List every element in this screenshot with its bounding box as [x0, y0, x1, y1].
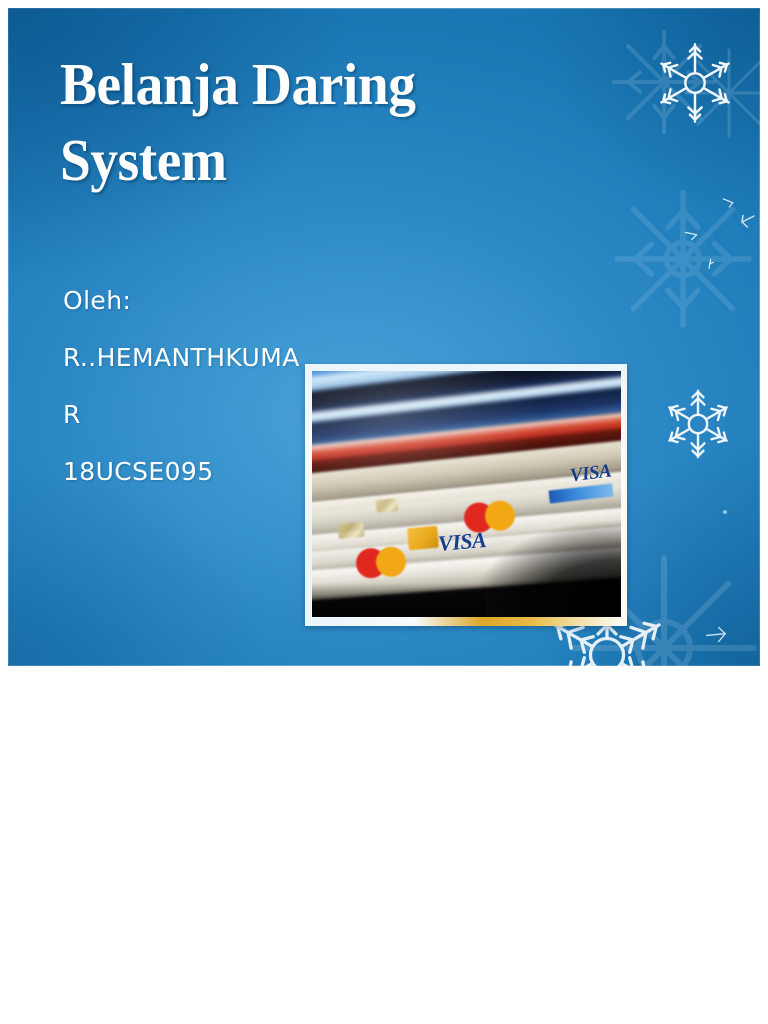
snowflake-icon [737, 211, 757, 231]
slide-title-line-2: System [60, 122, 502, 198]
snowflake-icon [681, 226, 701, 242]
snowflake-icon [604, 22, 724, 142]
credit-cards-image-frame: VISA VISA [305, 364, 627, 626]
slide-canvas: Belanja Daring System Oleh: R..HEMANTHKU… [8, 8, 760, 666]
snowflake-icon [644, 32, 746, 134]
presentation-slide: Belanja Daring System Oleh: R..HEMANTHKU… [8, 8, 760, 666]
snowflake-icon [652, 378, 744, 470]
slide-title-line-1: Belanja Daring [60, 46, 502, 122]
slide-title: Belanja Daring System [60, 46, 530, 198]
snowflake-icon [701, 624, 731, 646]
snowflake-icon [720, 194, 736, 210]
snowflake-icon [608, 184, 758, 334]
snowflake-icon [680, 44, 760, 142]
page-white-area [0, 666, 768, 1024]
subtitle-label-oleh: Oleh: [63, 272, 363, 329]
snowflake-icon [704, 253, 716, 275]
snowflake-icon [721, 508, 729, 516]
credit-cards-image: VISA VISA [312, 371, 621, 617]
